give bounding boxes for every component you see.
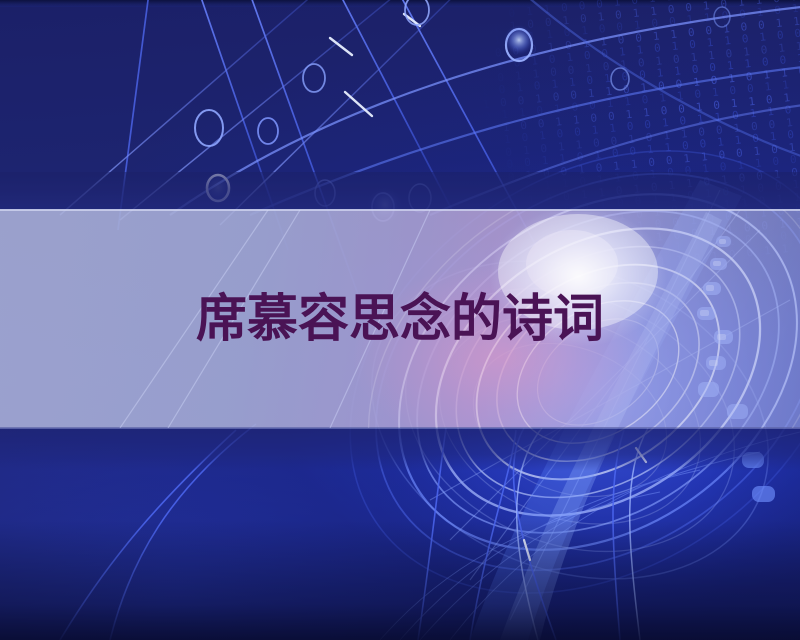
upper-dark-band (0, 172, 800, 210)
bottom-vignette (0, 520, 800, 640)
lower-dark-band (0, 429, 800, 471)
banner-image: 0 1 0 0 1 1 0 0 0 1 0 1 1 0 0 1 0 0 1 1 … (0, 0, 800, 640)
